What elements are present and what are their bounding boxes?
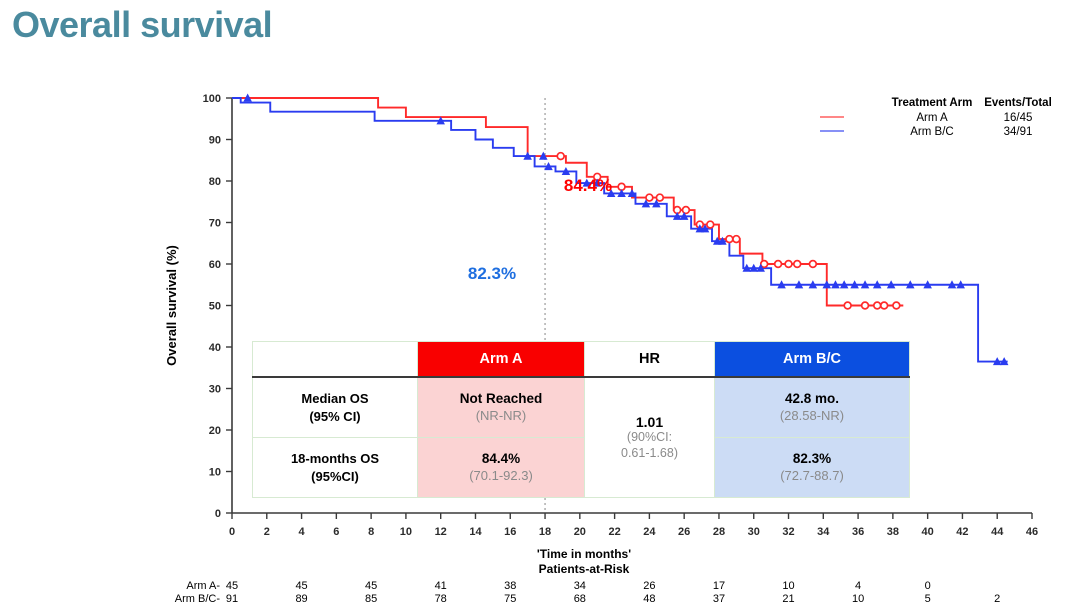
risk-value: 37 xyxy=(713,593,725,605)
row-label-line1: Median OS xyxy=(301,391,368,406)
median-os-arm-bc: 42.8 mo. (28.58-NR) xyxy=(715,377,910,438)
risk-value: 34 xyxy=(574,580,586,592)
svg-text:0: 0 xyxy=(215,508,221,520)
svg-text:38: 38 xyxy=(887,526,899,538)
svg-text:60: 60 xyxy=(209,259,221,271)
svg-text:50: 50 xyxy=(209,301,221,313)
summary-header-hr: HR xyxy=(585,342,715,378)
curve-annotation: 82.3% xyxy=(468,264,516,283)
hr-ci-line1: (90%CI: xyxy=(587,430,712,446)
svg-text:100: 100 xyxy=(203,93,221,105)
legend-label-arm-bc: Arm B/C xyxy=(910,126,953,138)
risk-value: 68 xyxy=(574,593,586,605)
censor-mark xyxy=(844,302,851,309)
page-title: Overall survival xyxy=(12,4,272,46)
svg-text:44: 44 xyxy=(991,526,1004,538)
svg-text:40: 40 xyxy=(209,342,221,354)
legend-header-events-total: Events/Total xyxy=(984,97,1052,109)
censor-mark xyxy=(656,194,663,201)
risk-value: 0 xyxy=(925,580,931,592)
risk-value: 17 xyxy=(713,580,725,592)
censor-mark xyxy=(785,261,792,268)
hr-ci-line2: 0.61-1.68) xyxy=(587,446,712,462)
svg-text:70: 70 xyxy=(209,218,221,230)
risk-value: 38 xyxy=(504,580,516,592)
risk-value: 5 xyxy=(925,593,931,605)
svg-text:24: 24 xyxy=(643,526,656,538)
censor-mark xyxy=(726,236,733,243)
slide: Overall survival 01020304050607080901000… xyxy=(0,0,1080,607)
row-label-18-months-os: 18-months OS (95%CI) xyxy=(253,438,418,498)
censor-markers xyxy=(244,94,1008,364)
median-os-arm-a: Not Reached (NR-NR) xyxy=(418,377,585,438)
os18-arm-a-ci: (70.1-92.3) xyxy=(420,468,582,485)
risk-value: 45 xyxy=(365,580,377,592)
svg-text:40: 40 xyxy=(922,526,934,538)
svg-text:0: 0 xyxy=(229,526,235,538)
curve-annotations: 84.4%82.3% xyxy=(468,176,612,283)
risk-value: 21 xyxy=(782,593,794,605)
svg-text:80: 80 xyxy=(209,176,221,188)
svg-text:6: 6 xyxy=(333,526,339,538)
svg-text:28: 28 xyxy=(713,526,725,538)
curve-annotation: 84.4% xyxy=(564,176,612,195)
svg-text:12: 12 xyxy=(435,526,447,538)
row-label-median-os: Median OS (95% CI) xyxy=(253,377,418,438)
risk-value: 26 xyxy=(643,580,655,592)
svg-text:2: 2 xyxy=(264,526,270,538)
row-label-line2: (95%CI) xyxy=(311,469,359,484)
svg-text:14: 14 xyxy=(469,526,482,538)
summary-row-median-os: Median OS (95% CI) Not Reached (NR-NR) 1… xyxy=(253,377,910,438)
legend-header-treatment-arm: Treatment Arm xyxy=(892,97,973,109)
risk-value: 78 xyxy=(435,593,447,605)
censor-mark xyxy=(809,261,816,268)
patients-at-risk-table: Patients-at-RiskArm A-454545413834261710… xyxy=(175,562,1001,605)
svg-text:20: 20 xyxy=(574,526,586,538)
legend-label-arm-a: Arm A xyxy=(916,112,948,124)
patients-at-risk-title: Patients-at-Risk xyxy=(539,562,630,576)
svg-text:26: 26 xyxy=(678,526,690,538)
row-label-line1: 18-months OS xyxy=(291,451,379,466)
svg-text:10: 10 xyxy=(209,467,221,479)
summary-row-18-months-os: 18-months OS (95%CI) 84.4% (70.1-92.3) 8… xyxy=(253,438,910,498)
svg-text:18: 18 xyxy=(539,526,551,538)
svg-text:36: 36 xyxy=(852,526,864,538)
svg-text:32: 32 xyxy=(782,526,794,538)
os18-arm-bc-ci: (72.7-88.7) xyxy=(717,468,907,485)
svg-text:42: 42 xyxy=(956,526,968,538)
os18-arm-bc: 82.3% (72.7-88.7) xyxy=(715,438,910,498)
survival-curve-arm-bc xyxy=(232,98,1008,362)
median-os-arm-bc-ci: (28.58-NR) xyxy=(717,408,907,425)
censor-mark xyxy=(646,194,653,201)
svg-text:22: 22 xyxy=(608,526,620,538)
risk-value: 89 xyxy=(295,593,307,605)
svg-text:46: 46 xyxy=(1026,526,1038,538)
risk-value: 75 xyxy=(504,593,516,605)
censor-mark xyxy=(794,261,801,268)
risk-value: 2 xyxy=(994,593,1000,605)
censor-mark xyxy=(881,302,888,309)
risk-value: 91 xyxy=(226,593,238,605)
hr-value: 1.01 xyxy=(587,414,712,430)
svg-text:30: 30 xyxy=(748,526,760,538)
risk-value: 10 xyxy=(852,593,864,605)
censor-mark xyxy=(683,207,690,214)
risk-value: 45 xyxy=(295,580,307,592)
censor-mark xyxy=(557,153,564,160)
risk-value: 10 xyxy=(782,580,794,592)
risk-row-label: Arm B/C- xyxy=(175,593,221,605)
risk-row-label: Arm A- xyxy=(186,580,220,592)
summary-header-arm-bc: Arm B/C xyxy=(715,342,910,378)
censor-mark xyxy=(893,302,900,309)
summary-header-arm-a: Arm A xyxy=(418,342,585,378)
svg-text:8: 8 xyxy=(368,526,374,538)
summary-table: Arm A HR Arm B/C Median OS (95% CI) Not … xyxy=(252,341,910,498)
hazard-ratio-cell: 1.01 (90%CI: 0.61-1.68) xyxy=(585,377,715,498)
svg-text:90: 90 xyxy=(209,135,221,147)
censor-mark xyxy=(775,261,782,268)
censor-mark xyxy=(874,302,881,309)
os18-arm-a: 84.4% (70.1-92.3) xyxy=(418,438,585,498)
kaplan-meier-chart: 0102030405060708090100024681012141618202… xyxy=(0,70,1080,607)
risk-value: 48 xyxy=(643,593,655,605)
summary-header-blank xyxy=(253,342,418,378)
censor-mark xyxy=(707,221,714,228)
svg-text:4: 4 xyxy=(299,526,306,538)
legend-events-arm-bc: 34/91 xyxy=(1004,126,1033,138)
risk-value: 45 xyxy=(226,580,238,592)
risk-value: 4 xyxy=(855,580,861,592)
median-os-arm-a-ci: (NR-NR) xyxy=(420,408,582,425)
svg-text:30: 30 xyxy=(209,384,221,396)
censor-mark xyxy=(733,236,740,243)
km-plot-figure: 0102030405060708090100024681012141618202… xyxy=(0,70,1080,607)
y-axis-title: Overall survival (%) xyxy=(164,245,179,366)
svg-text:34: 34 xyxy=(817,526,830,538)
os18-arm-bc-value: 82.3% xyxy=(717,450,907,468)
survival-curve-arm-a xyxy=(232,98,903,306)
summary-table-header-row: Arm A HR Arm B/C xyxy=(253,342,910,378)
chart-legend: Treatment ArmEvents/TotalArm A16/45Arm B… xyxy=(820,97,1052,138)
svg-text:20: 20 xyxy=(209,425,221,437)
row-label-line2: (95% CI) xyxy=(309,409,360,424)
median-os-arm-bc-value: 42.8 mo. xyxy=(717,390,907,408)
legend-events-arm-a: 16/45 xyxy=(1004,112,1033,124)
median-os-arm-a-value: Not Reached xyxy=(420,390,582,408)
survival-curves xyxy=(232,98,1008,362)
svg-text:16: 16 xyxy=(504,526,516,538)
censor-mark xyxy=(862,302,869,309)
risk-value: 85 xyxy=(365,593,377,605)
risk-value: 41 xyxy=(435,580,447,592)
svg-text:10: 10 xyxy=(400,526,412,538)
os18-arm-a-value: 84.4% xyxy=(420,450,582,468)
x-axis-title: 'Time in months' xyxy=(537,547,631,561)
